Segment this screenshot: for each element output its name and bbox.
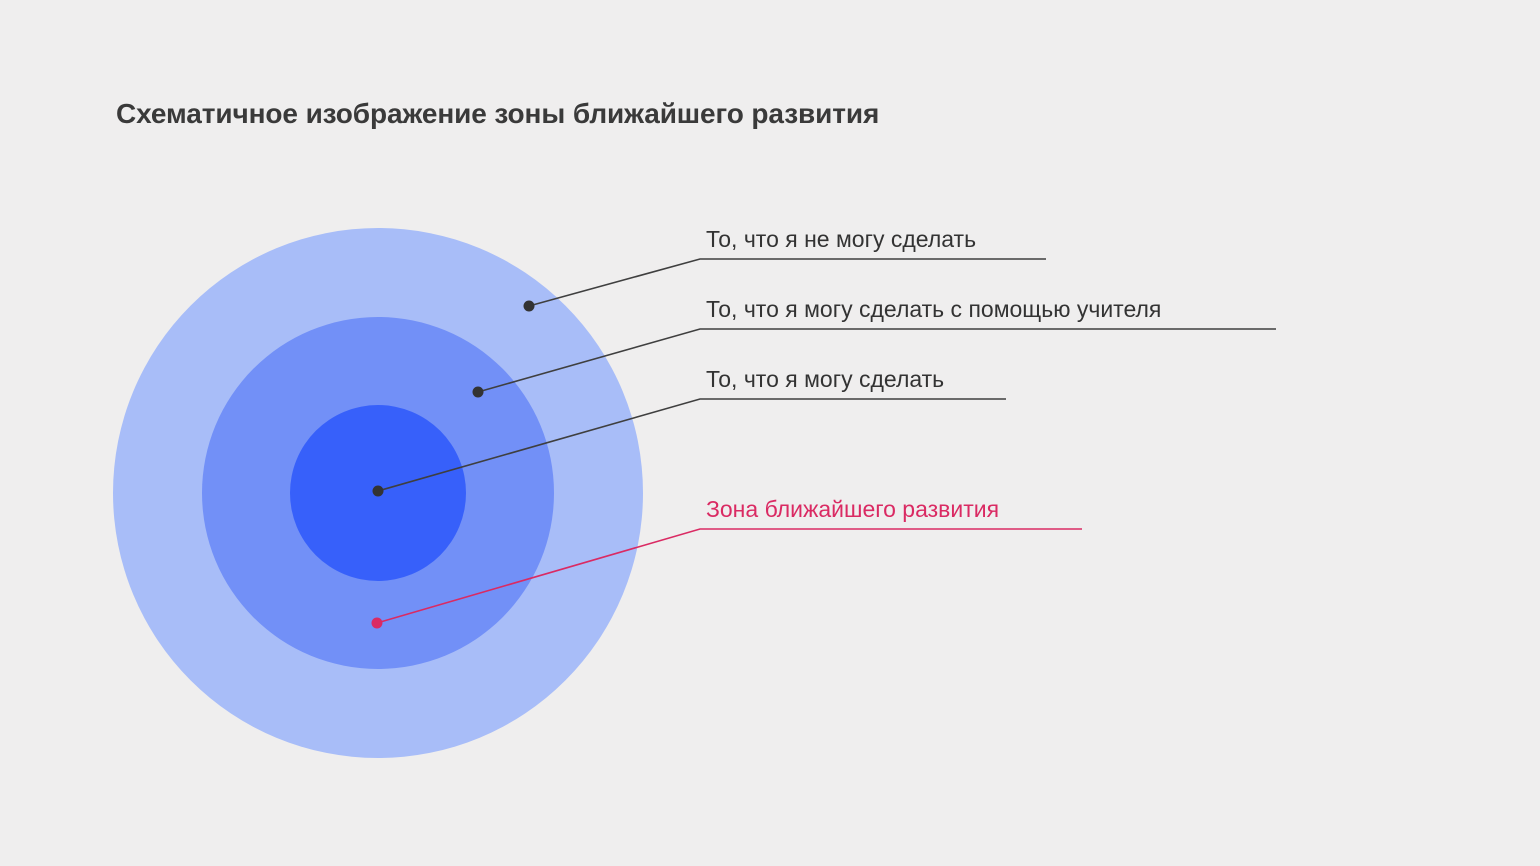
label-with-teacher: То, что я могу сделать с помощью учителя (706, 298, 1161, 321)
label-zone-of-proximal-development: Зона ближайшего развития (706, 498, 999, 521)
concentric-circles-diagram (0, 0, 1540, 866)
label-can-do: То, что я могу сделать (706, 368, 944, 391)
marker-dot-zpd (372, 618, 383, 629)
diagram-canvas: Схематичное изображение зоны ближайшего … (0, 0, 1540, 866)
marker-dot-cannot-do (524, 301, 535, 312)
marker-dot-can-do (373, 486, 384, 497)
marker-dot-with-teacher (473, 387, 484, 398)
label-cannot-do: То, что я не могу сделать (706, 228, 976, 251)
